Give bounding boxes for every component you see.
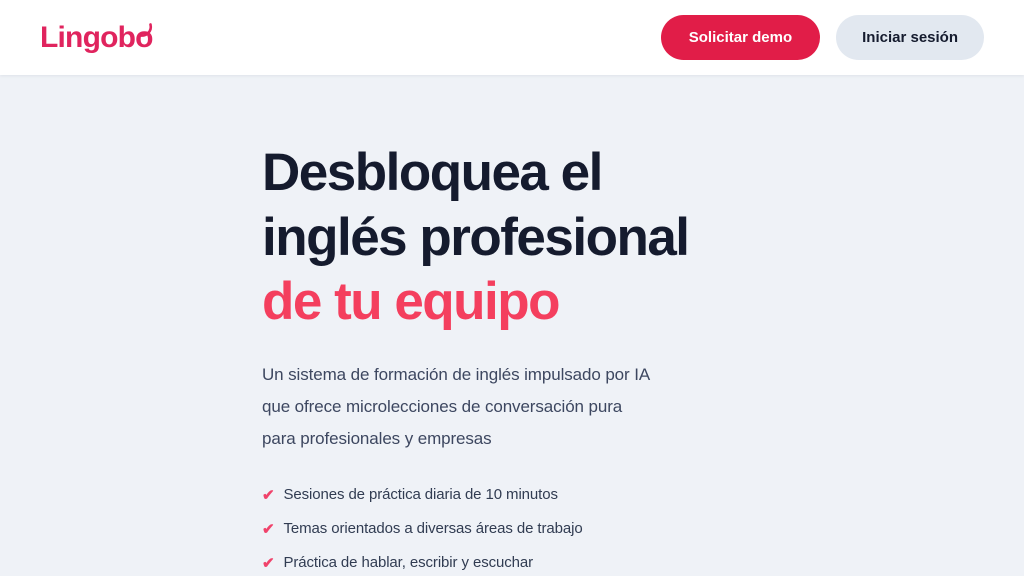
headline-line-1: Desbloquea el: [262, 143, 602, 202]
hero-content: Desbloquea el inglés profesional de tu e…: [0, 75, 1024, 576]
subtitle-line-1: Un sistema de formación de inglés impuls…: [262, 365, 650, 384]
site-header: Lingobo Solicitar demo Iniciar sesión: [0, 0, 1024, 75]
hero-subtitle: Un sistema de formación de inglés impuls…: [262, 359, 772, 455]
brand-logo-text: Lingobo: [40, 23, 153, 53]
header-actions: Solicitar demo Iniciar sesión: [661, 15, 984, 60]
feature-label: Sesiones de práctica diaria de 10 minuto…: [283, 487, 557, 502]
headline-line-2: inglés profesional: [262, 208, 689, 267]
headline-line-3-accent: de tu equipo: [262, 272, 559, 331]
subtitle-line-3: para profesionales y empresas: [262, 429, 492, 448]
feature-list: ✔ Sesiones de práctica diaria de 10 minu…: [262, 487, 1024, 576]
subtitle-line-2: que ofrece microlecciones de conversació…: [262, 397, 622, 416]
hero-section: Desbloquea el inglés profesional de tu e…: [0, 75, 1024, 576]
list-item: ✔ Práctica de hablar, escribir y escucha…: [262, 555, 1024, 572]
login-button[interactable]: Iniciar sesión: [836, 15, 984, 60]
check-icon: ✔: [262, 487, 274, 504]
list-item: ✔ Temas orientados a diversas áreas de t…: [262, 521, 1024, 538]
check-icon: ✔: [262, 521, 274, 538]
page-title: Desbloquea el inglés profesional de tu e…: [262, 141, 802, 335]
request-demo-button[interactable]: Solicitar demo: [661, 15, 820, 60]
check-icon: ✔: [262, 555, 274, 572]
brand-logo[interactable]: Lingobo: [40, 23, 153, 53]
feature-label: Práctica de hablar, escribir y escuchar: [283, 555, 533, 570]
list-item: ✔ Sesiones de práctica diaria de 10 minu…: [262, 487, 1024, 504]
feature-label: Temas orientados a diversas áreas de tra…: [283, 521, 582, 536]
